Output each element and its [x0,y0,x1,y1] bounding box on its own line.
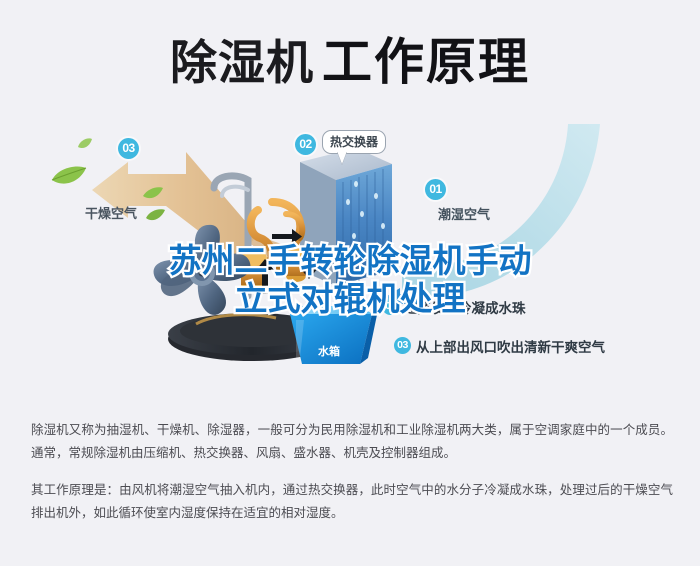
badge-02-heat-exchanger: 02 [295,134,316,155]
heat-exchanger-block [300,148,392,286]
dehumidifier-infographic-page: 除湿机工作原理 [0,0,700,566]
callout-tail-icon [337,151,347,164]
label-dry-air: 干燥空气 [85,203,137,222]
page-title: 除湿机工作原理 [0,22,700,94]
label-humid-air: 潮湿空气 [438,204,490,223]
description-paragraph-2: 其工作原理是：由风机将潮湿空气抽入机内，通过热交换器，此时空气中的水分子冷凝成水… [31,478,673,524]
caption-badge-02: 02 [382,298,399,315]
caption-badge-03: 03 [394,337,411,354]
label-water-tank: 水箱 [318,343,340,359]
humid-air-flow [402,124,600,314]
diagram-illustration [0,118,700,403]
dehumidifier-diagram: 03 干燥空气 02 热交换器 01 潮湿空气 水箱 02 过蒸发器冷凝成水珠 … [0,118,700,403]
page-title-part1: 除湿机 [170,36,314,91]
callout-heat-exchanger: 热交换器 [322,130,386,154]
badge-01-humid-air: 01 [425,179,446,200]
caption-text-03: 从上部出风口吹出清新干爽空气 [416,336,605,356]
badge-03-dry-air: 03 [118,138,139,159]
description-paragraph-1: 除湿机又称为抽湿机、干燥机、除湿器，一般可分为民用除湿机和工业除湿机两大类，属于… [31,418,673,464]
page-title-part2: 工作原理 [322,33,530,91]
caption-text-02: 过蒸发器冷凝成水珠 [404,297,526,317]
description-block: 除湿机又称为抽湿机、干燥机、除湿器，一般可分为民用除湿机和工业除湿机两大类，属于… [31,418,673,524]
